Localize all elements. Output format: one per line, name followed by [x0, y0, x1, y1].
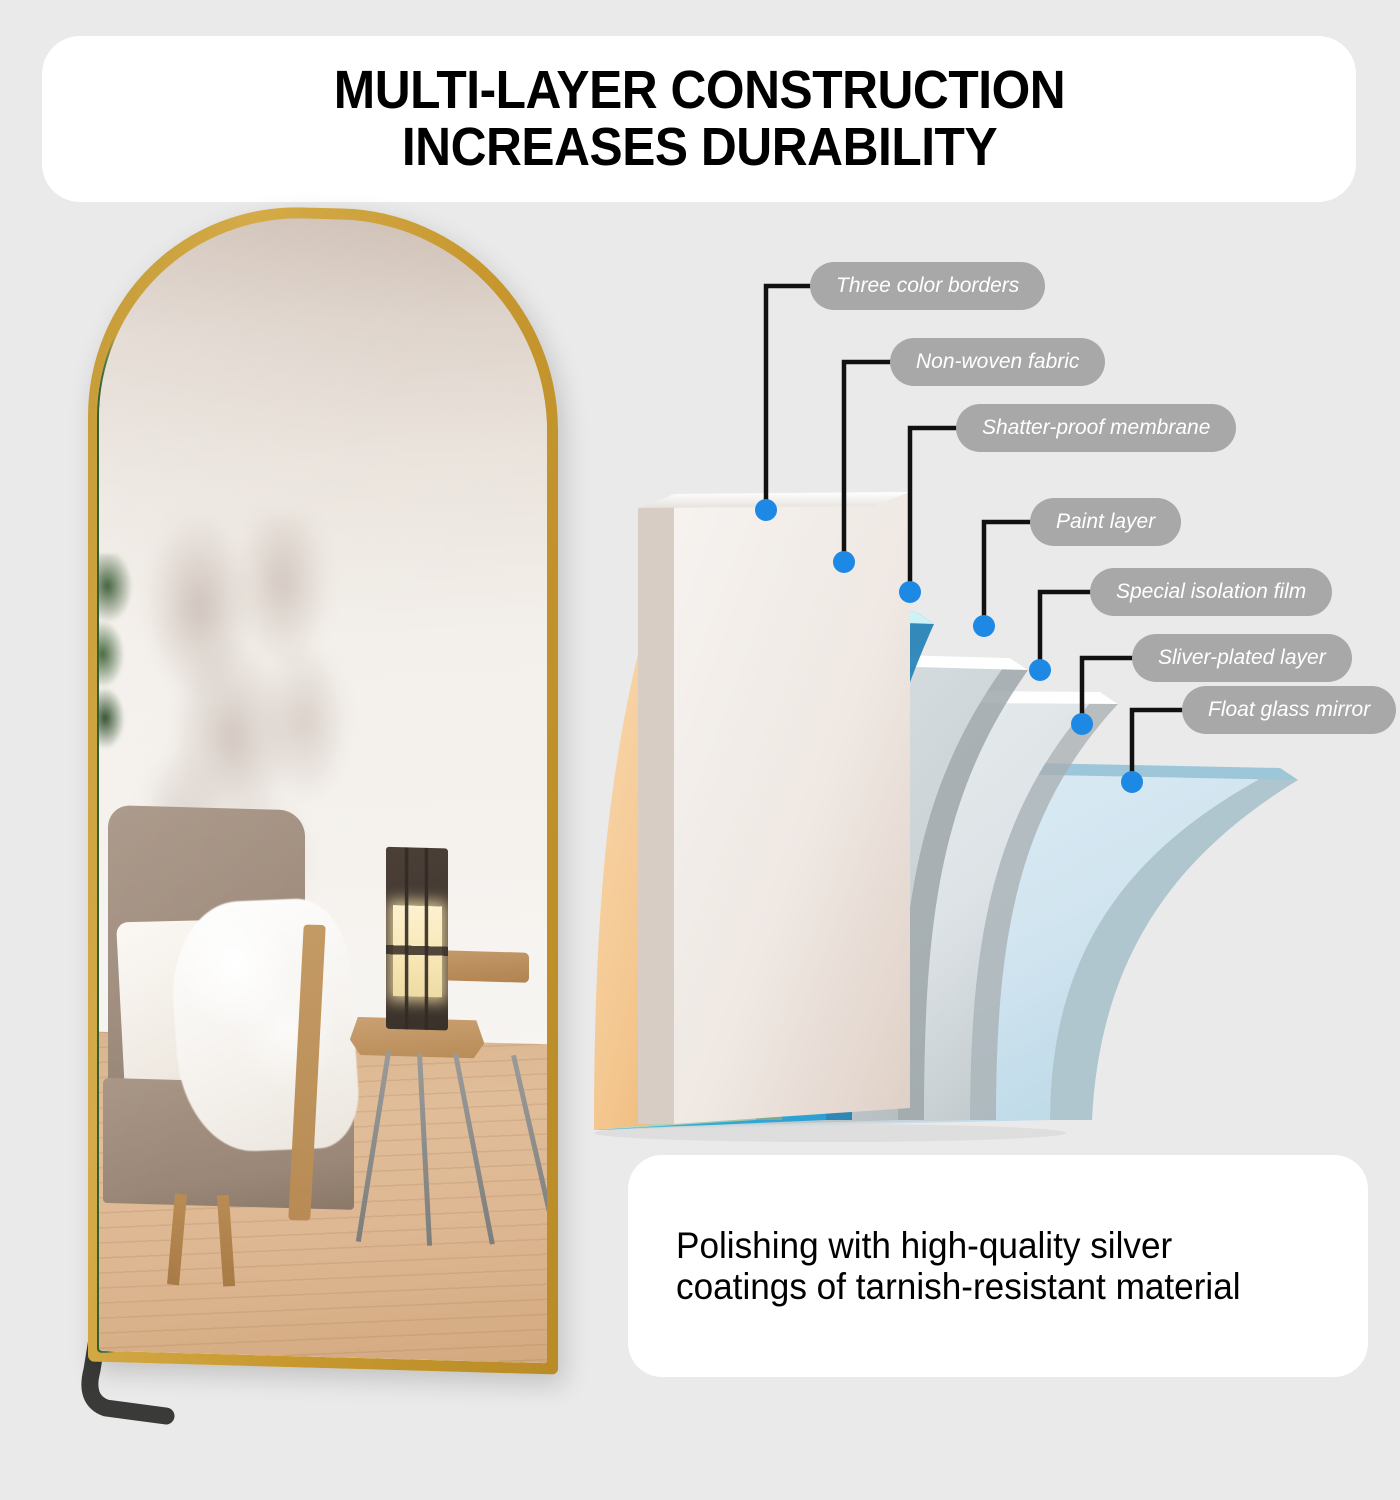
anchor-dot	[1071, 713, 1093, 735]
callout-special-isolation-film[interactable]: Special isolation film	[1090, 568, 1332, 616]
lamp-mullions	[386, 847, 449, 1031]
callout-label: Non-woven fabric	[916, 350, 1079, 374]
anchor-dot	[1029, 659, 1051, 681]
mirror-reflection	[99, 213, 547, 1364]
anchor-dot	[899, 581, 921, 603]
callout-label: Paint layer	[1056, 510, 1155, 534]
product-image-arch-mirror	[40, 200, 580, 1380]
layer-three-color-borders	[638, 492, 910, 1124]
plant-leaves	[99, 554, 148, 783]
callout-three-color-borders[interactable]: Three color borders	[810, 262, 1045, 310]
page-title: MULTI-LAYER CONSTRUCTION INCREASES DURAB…	[333, 62, 1064, 175]
gold-frame	[88, 201, 558, 1374]
callout-label: Sliver-plated layer	[1158, 646, 1326, 670]
callout-label: Float glass mirror	[1208, 698, 1370, 722]
throw-blanket	[167, 896, 363, 1154]
callout-sliver-plated-layer[interactable]: Sliver-plated layer	[1132, 634, 1352, 682]
callout-label: Special isolation film	[1116, 580, 1306, 604]
caption-card: Polishing with high-quality silver coati…	[628, 1155, 1368, 1377]
anchor-dot	[833, 551, 855, 573]
callout-non-woven-fabric[interactable]: Non-woven fabric	[890, 338, 1105, 386]
callout-float-glass-mirror[interactable]: Float glass mirror	[1182, 686, 1396, 734]
title-card: MULTI-LAYER CONSTRUCTION INCREASES DURAB…	[42, 36, 1356, 202]
layer-diagram: Three color borders Non-woven fabric Sha…	[580, 240, 1400, 1150]
callout-label: Three color borders	[836, 274, 1019, 298]
anchor-dot	[755, 499, 777, 521]
anchor-dot	[973, 615, 995, 637]
caption-text: Polishing with high-quality silver coati…	[676, 1225, 1241, 1308]
callout-shatter-proof-membrane[interactable]: Shatter-proof membrane	[956, 404, 1236, 452]
callout-paint-layer[interactable]: Paint layer	[1030, 498, 1181, 546]
callout-label: Shatter-proof membrane	[982, 416, 1210, 440]
lantern-lamp	[386, 847, 449, 1031]
anchor-dot	[1121, 771, 1143, 793]
mirror-frame	[88, 201, 558, 1374]
